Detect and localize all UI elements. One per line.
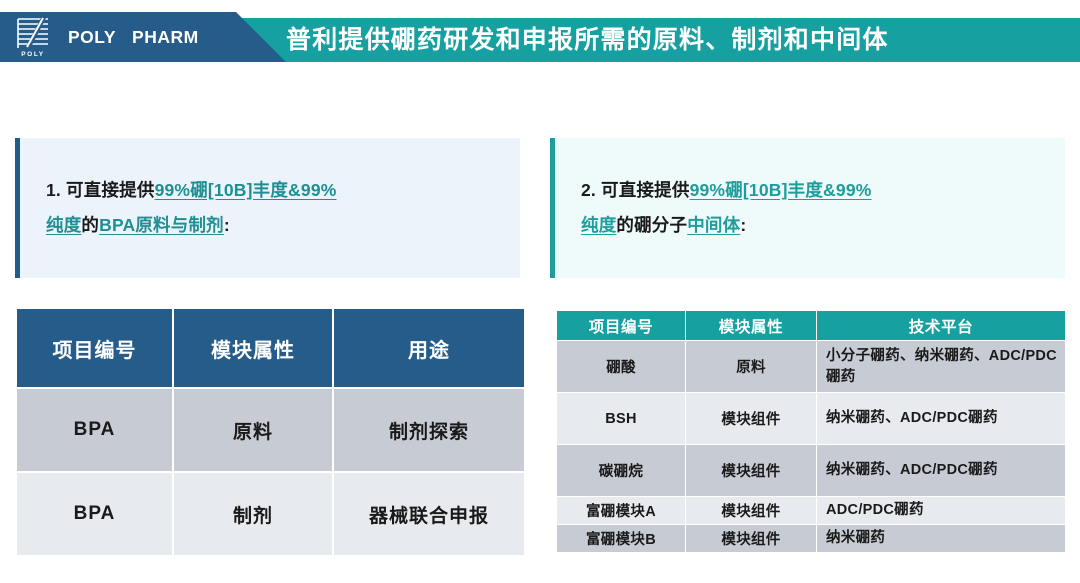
callout-2-line1-prefix: 2. 可直接提供 [581,180,690,200]
table-right-r3-c0: 富硼模块A [557,497,685,524]
table-row: BPA 原料 制剂探索 [17,389,524,471]
callout-2-line2-plain-b: : [740,215,746,235]
table-right-r0-c0: 硼酸 [557,341,685,392]
table-left-header-cell-2: 模块属性 [174,309,332,387]
table-right-r4-c2: 纳米硼药 [817,525,1065,552]
callout-1-line2-plain-b: : [224,215,230,235]
table-right-r0-c1: 原料 [686,341,816,392]
table-left-header-cell-3: 用途 [334,309,524,387]
callout-1-line2-highlight-b: BPA原料与制剂 [99,215,224,235]
table-right-r3-c2: ADC/PDC硼药 [817,497,1065,524]
table-left-r1-c0: BPA [17,473,172,555]
callout-box-1: 1. 可直接提供99%硼[10B]丰度&99% 纯度的BPA原料与制剂: [15,138,520,278]
table-right-r1-c2: 纳米硼药、ADC/PDC硼药 [817,393,1065,444]
table-right-r2-c1: 模块组件 [686,445,816,496]
table-right-r4-c1: 模块组件 [686,525,816,552]
table-left-r1-c2: 器械联合申报 [334,473,524,555]
table-row: 富硼模块A 模块组件 ADC/PDC硼药 [557,497,1065,524]
table-left-r1-c1: 制剂 [174,473,332,555]
table-right-header-row: 项目编号 模块属性 技术平台 [557,311,1065,340]
callout-1-text: 1. 可直接提供99%硼[10B]丰度&99% 纯度的BPA原料与制剂: [46,173,337,243]
table-left-r0-c2: 制剂探索 [334,389,524,471]
table-left-r0-c1: 原料 [174,389,332,471]
table-right-r0-c2: 小分子硼药、纳米硼药、ADC/PDC硼药 [817,341,1065,392]
brand-secondary: PHARM [132,27,199,48]
table-left-r0-c0: BPA [17,389,172,471]
callout-2-text: 2. 可直接提供99%硼[10B]丰度&99% 纯度的硼分子中间体: [581,173,872,243]
table-bpa-materials: 项目编号 模块属性 用途 BPA 原料 制剂探索 BPA 制剂 器械联合申报 [15,307,526,557]
table-right-r1-c1: 模块组件 [686,393,816,444]
callout-box-2: 2. 可直接提供99%硼[10B]丰度&99% 纯度的硼分子中间体: [550,138,1065,278]
table-left-header-row: 项目编号 模块属性 用途 [17,309,524,387]
table-row: 碳硼烷 模块组件 纳米硼药、ADC/PDC硼药 [557,445,1065,496]
table-row: 富硼模块B 模块组件 纳米硼药 [557,525,1065,552]
callout-2-line2-plain-a: 的硼分子 [616,215,687,235]
table-row: BSH 模块组件 纳米硼药、ADC/PDC硼药 [557,393,1065,444]
table-row: BPA 制剂 器械联合申报 [17,473,524,555]
table-left-header-cell-1: 项目编号 [17,309,172,387]
callout-1-line1-highlight: 99%硼[10B]丰度&99% [155,180,337,200]
table-right-r2-c0: 碳硼烷 [557,445,685,496]
callout-1-body: 1. 可直接提供99%硼[10B]丰度&99% 纯度的BPA原料与制剂: [20,138,520,278]
table-right-r1-c0: BSH [557,393,685,444]
brand-text: POLY PHARM [68,27,199,48]
table-right-r2-c2: 纳米硼药、ADC/PDC硼药 [817,445,1065,496]
brand-primary: POLY [68,27,116,48]
callout-2-line1-highlight: 99%硼[10B]丰度&99% [690,180,872,200]
poly-logo-icon: POLY [14,15,54,59]
callout-2-line2-highlight-b: 中间体 [687,215,740,235]
brand-lockup: POLY POLY PHARM [14,12,199,62]
callout-2-body: 2. 可直接提供99%硼[10B]丰度&99% 纯度的硼分子中间体: [555,138,1065,278]
callout-2-line2-highlight-a: 纯度 [581,215,616,235]
logo-caption-text: POLY [21,51,45,58]
table-right-header-cell-1: 项目编号 [557,311,685,340]
page-title: 普利提供硼药研发和申报所需的原料、制剂和中间体 [286,18,1046,62]
table-right-r4-c0: 富硼模块B [557,525,685,552]
table-right-header-cell-3: 技术平台 [817,311,1065,340]
table-row: 硼酸 原料 小分子硼药、纳米硼药、ADC/PDC硼药 [557,341,1065,392]
callout-1-line1-prefix: 1. 可直接提供 [46,180,155,200]
table-right-r3-c1: 模块组件 [686,497,816,524]
callout-1-line2-highlight-a: 纯度 [46,215,81,235]
table-right-header-cell-2: 模块属性 [686,311,816,340]
callout-1-line2-plain-a: 的 [81,215,99,235]
page-header: POLY POLY PHARM 普利提供硼药研发和申报所需的原料、制剂和中间体 [0,0,1080,70]
table-boron-intermediates: 项目编号 模块属性 技术平台 硼酸 原料 小分子硼药、纳米硼药、ADC/PDC硼… [556,310,1066,553]
